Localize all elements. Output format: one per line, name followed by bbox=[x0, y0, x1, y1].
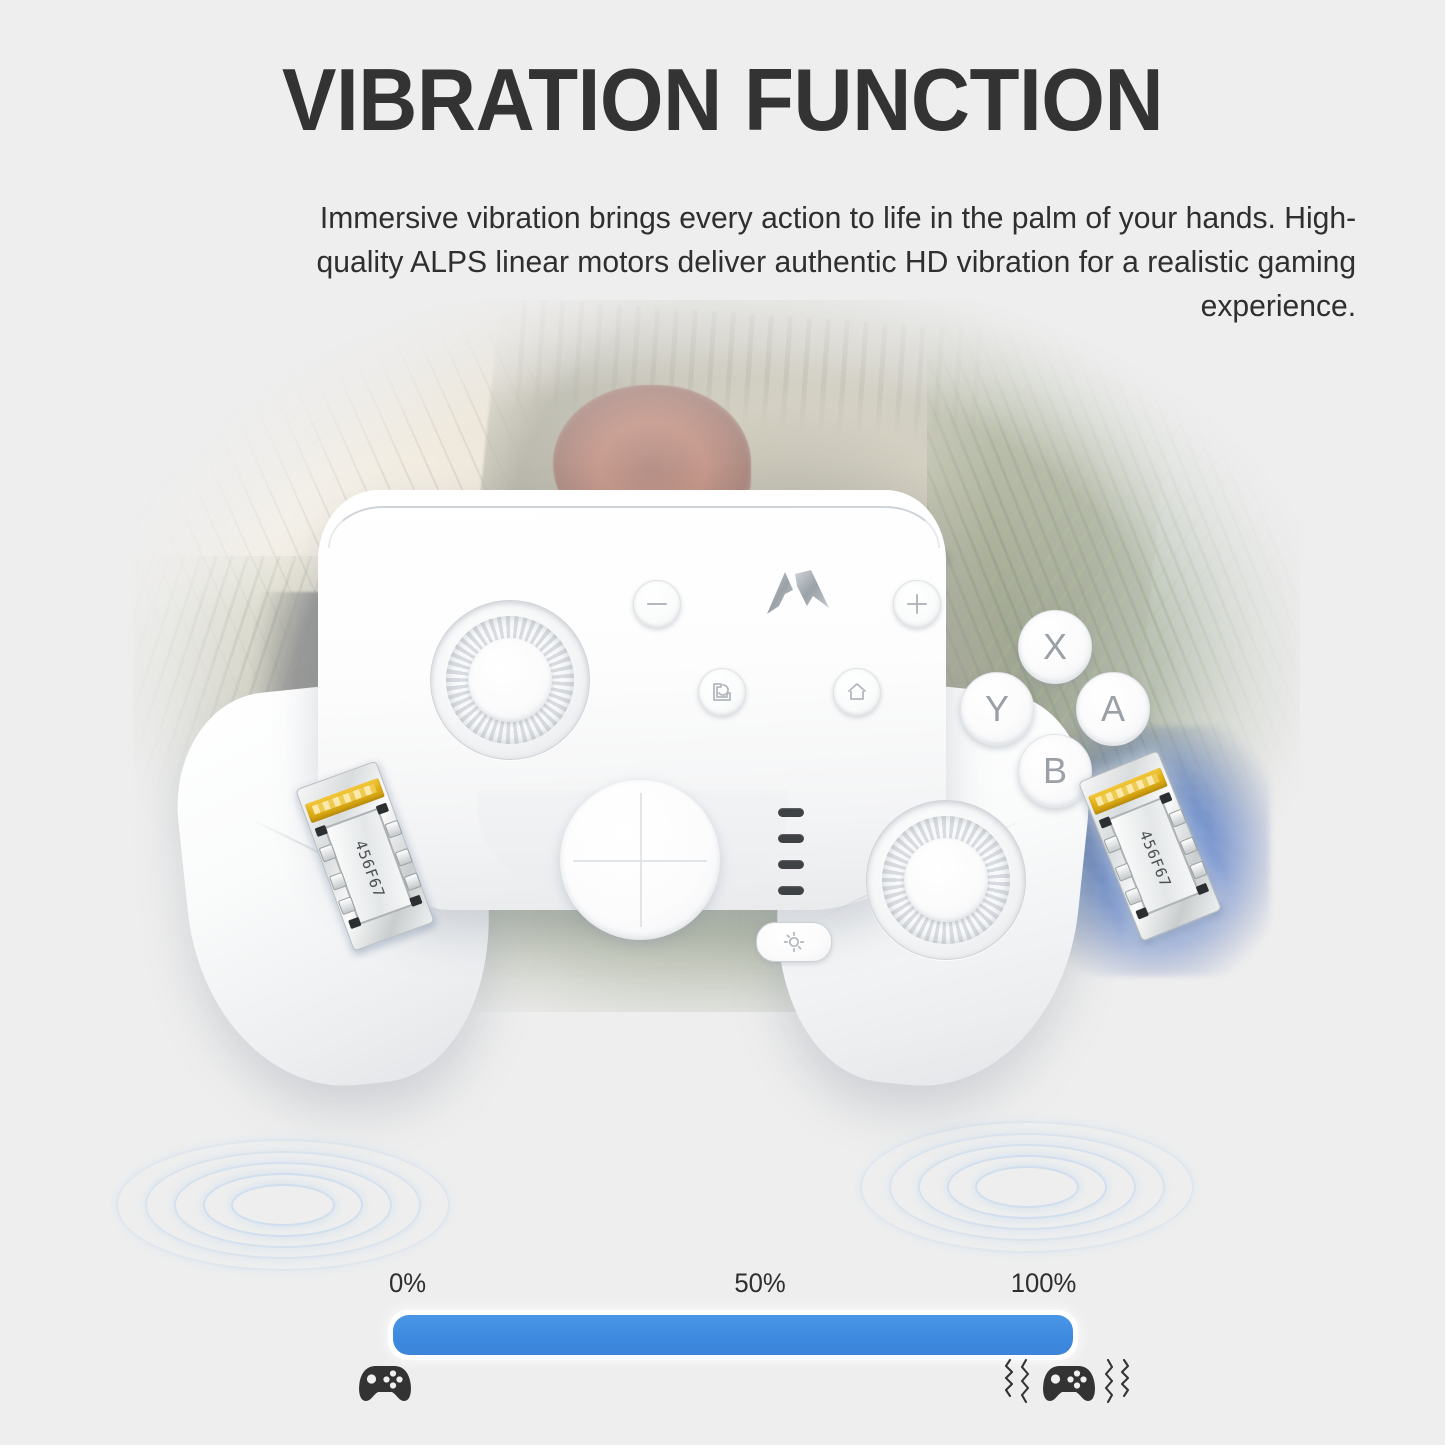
gamepad-icon-vibrating bbox=[1004, 1358, 1130, 1404]
plus-icon bbox=[906, 593, 928, 615]
turbo-icon bbox=[783, 931, 805, 953]
controller-top-seam bbox=[328, 506, 940, 548]
y-button-label: Y bbox=[985, 688, 1009, 730]
vibration-ripple-right bbox=[862, 1122, 1192, 1252]
player-led-indicators bbox=[778, 808, 804, 912]
a-button[interactable]: A bbox=[1076, 672, 1150, 746]
meter-fill bbox=[393, 1315, 1073, 1355]
vibration-intensity-meter: 0% 50% 100% bbox=[388, 1268, 1078, 1360]
vibration-waves-left-icon bbox=[1004, 1358, 1031, 1404]
led-2 bbox=[778, 834, 804, 843]
stick-cap-left bbox=[468, 638, 552, 722]
brand-arrow-mark-logo bbox=[763, 568, 839, 622]
home-icon bbox=[846, 681, 868, 703]
gamepad-icon bbox=[354, 1358, 412, 1404]
capture-button[interactable] bbox=[698, 668, 746, 716]
motor-part-code-left: 456F67 bbox=[351, 838, 386, 895]
b-button-label: B bbox=[1043, 750, 1067, 792]
logo-icon bbox=[763, 568, 839, 622]
gamepad-icon-static bbox=[354, 1358, 412, 1404]
vibration-comparison-icons bbox=[340, 1358, 1130, 1438]
meter-label-min: 0% bbox=[389, 1268, 426, 1299]
vibration-waves-right-icon bbox=[1103, 1358, 1130, 1404]
capture-icon bbox=[711, 681, 733, 703]
vibration-ripple-left bbox=[118, 1140, 448, 1270]
x-button-label: X bbox=[1043, 626, 1067, 668]
page-title: VIBRATION FUNCTION bbox=[51, 56, 1395, 144]
plus-button[interactable] bbox=[893, 580, 941, 628]
meter-label-max: 100% bbox=[1011, 1268, 1077, 1299]
motor-part-code-right: 456F67 bbox=[1136, 828, 1173, 885]
meter-track[interactable] bbox=[388, 1310, 1078, 1360]
meter-scale-labels: 0% 50% 100% bbox=[388, 1268, 1078, 1302]
b-button[interactable]: B bbox=[1018, 734, 1092, 808]
y-button[interactable]: Y bbox=[960, 672, 1034, 746]
minus-icon bbox=[646, 599, 668, 609]
stick-cap-right bbox=[904, 838, 988, 922]
led-4 bbox=[778, 886, 804, 895]
led-3 bbox=[778, 860, 804, 869]
minus-button[interactable] bbox=[633, 580, 681, 628]
home-button[interactable] bbox=[833, 668, 881, 716]
product-feature-page: VIBRATION FUNCTION Immersive vibration b… bbox=[0, 0, 1445, 1445]
turbo-button[interactable] bbox=[756, 922, 832, 962]
x-button[interactable]: X bbox=[1018, 610, 1092, 684]
meter-label-mid: 50% bbox=[734, 1268, 785, 1299]
right-analog-stick[interactable] bbox=[866, 800, 1026, 960]
gamepad-icon bbox=[1038, 1358, 1096, 1404]
directional-pad[interactable] bbox=[560, 780, 720, 940]
led-1 bbox=[778, 808, 804, 817]
left-analog-stick[interactable] bbox=[430, 600, 590, 760]
a-button-label: A bbox=[1101, 688, 1125, 730]
